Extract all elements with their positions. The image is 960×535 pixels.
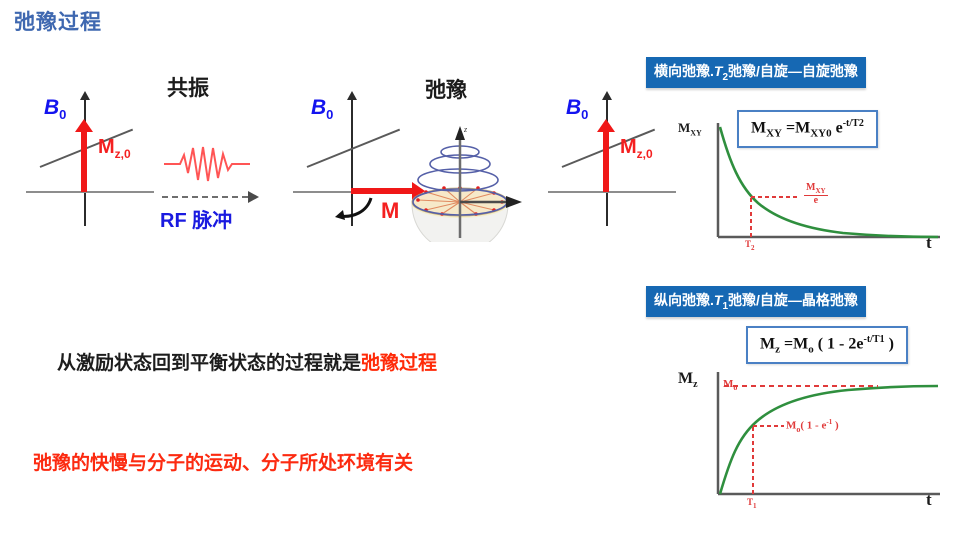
b0-label: B0: [311, 96, 333, 122]
precession-hemisphere-illustration: z: [398, 118, 522, 242]
rf-pulse-label: RF 脉冲: [160, 204, 232, 233]
chart-t1-annotation: Mo( 1 - e-1 ): [786, 418, 839, 434]
x-axis: [548, 191, 676, 193]
mz0-label: Mz,0: [98, 136, 131, 161]
process-arrow-icon: [162, 196, 248, 198]
chart-t1-plot-area: [678, 368, 948, 523]
body-text-plain: 从激励状态回到平衡状态的过程就是: [57, 353, 361, 374]
rf-pulse-waveform-icon: [162, 142, 282, 186]
rotation-arrow-icon: [333, 196, 375, 224]
x-axis: [26, 191, 154, 193]
m-label: M: [381, 198, 399, 224]
body-text-line-1: 从激励状态回到平衡状态的过程就是弛豫过程: [57, 348, 437, 375]
chart-t1-asymptote-label: Mo: [723, 378, 737, 392]
slide-canvas: 弛豫过程 B0 Mz,0 共振 RF 脉冲 B0 M 弛豫: [0, 0, 960, 535]
caption-resonance: 共振: [167, 72, 209, 102]
chart-t2-xlabel: t: [926, 233, 932, 253]
diagram-equilibrium-left: B0 Mz,0: [18, 92, 168, 232]
b0-label: B0: [566, 96, 588, 122]
panel-header-longitudinal: 纵向弛豫.T1弛豫/自旋—晶格弛豫: [646, 286, 866, 317]
body-text-highlight: 弛豫过程: [361, 353, 437, 374]
mz0-label: Mz,0: [620, 136, 653, 161]
body-text-line-2: 弛豫的快慢与分子的运动、分子所处环境有关: [33, 448, 413, 475]
chart-t2-decay: MXY T2 MXY e t: [678, 115, 948, 260]
z-axis-label: z: [463, 125, 468, 134]
panel-longitudinal-relaxation: 纵向弛豫.T1弛豫/自旋—晶格弛豫: [646, 286, 866, 317]
panel-header-transverse: 横向弛豫.T2弛豫/自旋—自旋弛豫: [646, 57, 866, 88]
chart-t2-tick-label: T2: [745, 239, 755, 252]
chart-t1-xlabel: t: [926, 490, 932, 510]
panel-transverse-relaxation: 横向弛豫.T2弛豫/自旋—自旋弛豫: [646, 57, 866, 88]
b0-label: B0: [44, 96, 66, 122]
magnetization-vector-arrow: [603, 130, 609, 192]
caption-relaxation: 弛豫: [425, 74, 467, 104]
page-title: 弛豫过程: [14, 6, 102, 36]
chart-t1-tick-label: T1: [747, 497, 757, 510]
magnetization-vector-arrow: [81, 130, 87, 192]
formula-t1: Mz =Mo ( 1 - 2e-t/T1 ): [746, 326, 908, 364]
y-axis: [307, 129, 400, 168]
chart-t1-recovery: Mz Mo Mo( 1 - e-1 ) T1 t: [678, 368, 948, 523]
chart-t2-annotation: MXY e: [804, 183, 828, 207]
diagram-relaxed-right: B0 Mz,0: [540, 92, 690, 232]
